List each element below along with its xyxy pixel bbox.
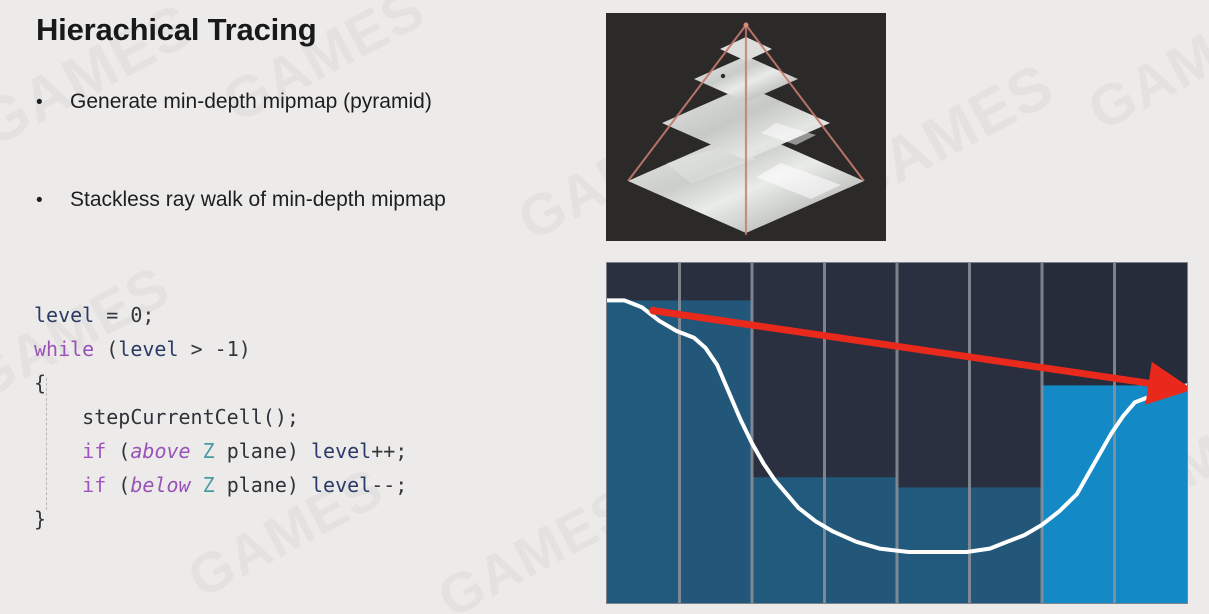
code-token: {	[34, 371, 46, 395]
code-token: below	[130, 473, 190, 497]
code-token: stepCurrentCell();	[82, 405, 299, 429]
code-token	[191, 439, 203, 463]
cell-filled-region	[970, 487, 1043, 603]
cell-filled-region	[897, 487, 970, 603]
cell-empty-region	[752, 263, 825, 477]
code-token: --;	[371, 473, 407, 497]
code-token: )	[239, 337, 251, 361]
code-token: >	[179, 337, 215, 361]
code-line-2: {	[34, 366, 407, 400]
code-line-0: level = 0;	[34, 298, 407, 332]
code-token: ;	[142, 303, 154, 327]
code-token: level	[311, 439, 371, 463]
code-line-1: while (level > -1)	[34, 332, 407, 366]
code-token: if	[82, 473, 106, 497]
ray-origin-marker	[649, 307, 657, 315]
code-line-5: if (below Z plane) level--;	[34, 468, 407, 502]
cell-filled-region	[607, 300, 680, 603]
figure-mipmap-pyramid	[606, 13, 886, 241]
cell-filled-region	[825, 477, 898, 603]
bullet-text: Generate min-depth mipmap (pyramid)	[70, 90, 432, 114]
cell-filled-region	[680, 300, 753, 603]
slide-canvas: GAMES GAMES GAMES GAMES GAMES GAMES GAME…	[0, 0, 1209, 614]
code-token: 0	[130, 303, 142, 327]
code-token: level	[34, 303, 94, 327]
cell-filled-region	[1115, 385, 1188, 603]
code-token: -1	[215, 337, 239, 361]
bullet-marker-icon: •	[36, 191, 70, 210]
mipmap-cells-svg	[607, 263, 1187, 603]
code-line-4: if (above Z plane) level++;	[34, 434, 407, 468]
code-token: above	[130, 439, 190, 463]
figure-mipmap-cells	[606, 262, 1188, 604]
code-token: (	[106, 439, 130, 463]
pyramid-svg	[606, 13, 886, 241]
code-token: plane)	[215, 439, 311, 463]
bullet-item-1: • Stackless ray walk of min-depth mipmap	[36, 188, 446, 212]
code-line-6: }	[34, 502, 407, 536]
cell-empty-region	[897, 263, 970, 487]
cell-empty-region	[970, 263, 1043, 487]
code-token: level	[118, 337, 178, 361]
watermark-games: GAMES	[1077, 0, 1209, 144]
cell-empty-region	[1115, 263, 1188, 385]
code-token: Z	[203, 439, 215, 463]
code-token: =	[94, 303, 130, 327]
code-token: plane)	[215, 473, 311, 497]
cell-empty-region	[825, 263, 898, 477]
code-token: }	[34, 507, 46, 531]
bullet-marker-icon: •	[36, 93, 70, 112]
code-token: level	[311, 473, 371, 497]
code-token	[34, 405, 82, 429]
cell-empty-region	[680, 263, 753, 300]
code-token	[34, 439, 82, 463]
code-token: if	[82, 439, 106, 463]
code-block: level = 0;while (level > -1){ stepCurren…	[34, 298, 407, 536]
bullet-item-0: • Generate min-depth mipmap (pyramid)	[36, 90, 432, 114]
cell-empty-region	[607, 263, 680, 300]
code-token: while	[34, 337, 94, 361]
code-token: (	[106, 473, 130, 497]
pyramid-apex-marker	[744, 23, 749, 28]
code-token: ++;	[371, 439, 407, 463]
bullet-text: Stackless ray walk of min-depth mipmap	[70, 188, 446, 212]
code-token: Z	[203, 473, 215, 497]
code-line-3: stepCurrentCell();	[34, 400, 407, 434]
code-token: (	[94, 337, 118, 361]
code-token	[191, 473, 203, 497]
code-token	[34, 473, 82, 497]
slide-title: Hierachical Tracing	[36, 12, 317, 48]
